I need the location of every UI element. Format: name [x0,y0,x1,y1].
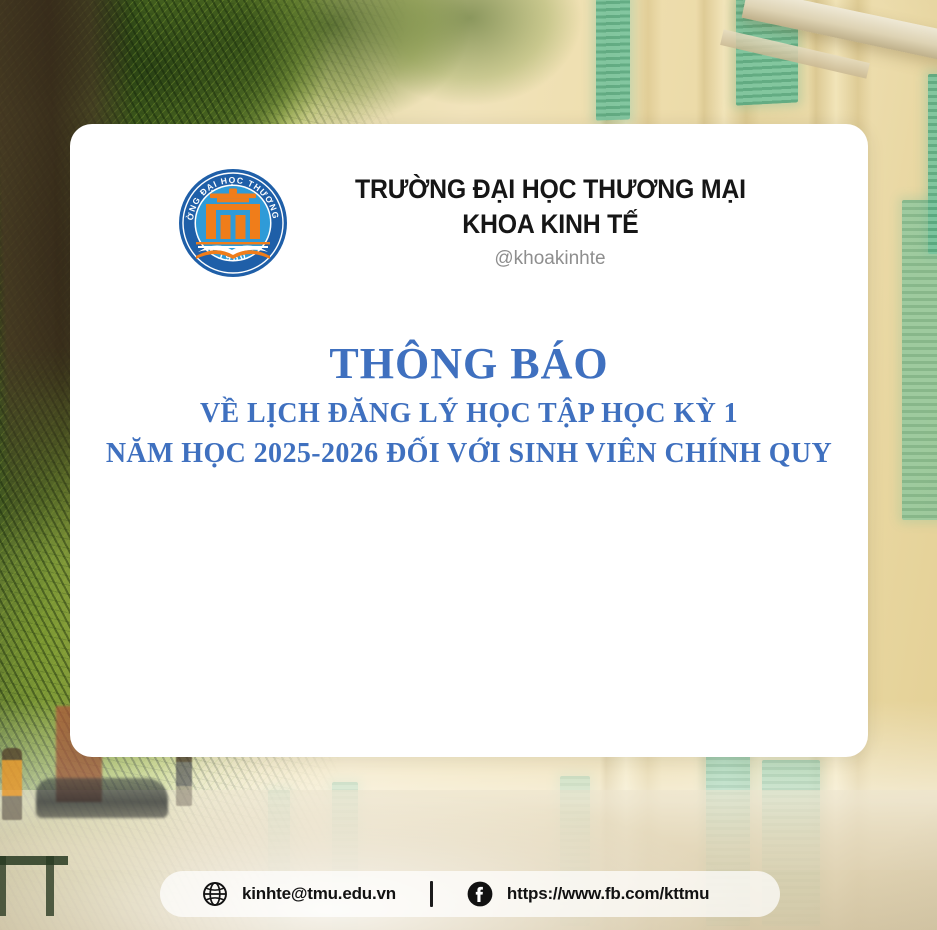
facebook-icon [467,881,493,907]
announcement-block: THÔNG BÁO VỀ LỊCH ĐĂNG LÝ HỌC TẬP HỌC KỲ… [70,338,868,474]
email-contact[interactable]: kinhte@tmu.edu.vn [202,881,396,907]
facebook-url: https://www.fb.com/kttmu [507,884,709,904]
announcement-card: TRƯỜNG ĐẠI HỌC THƯƠNG MẠI • 1960 • [70,124,868,757]
faculty-name: KHOA KINH TẾ [355,206,746,242]
announcement-subtitle-line-1: VỀ LỊCH ĐĂNG LÝ HỌC TẬP HỌC KỲ 1 [70,394,868,434]
announcement-subtitle-line-2: NĂM HỌC 2025-2026 ĐỐI VỚI SINH VIÊN CHÍN… [70,434,868,474]
email-address: kinhte@tmu.edu.vn [242,884,396,904]
globe-icon [202,881,228,907]
organisation-names: TRƯỜNG ĐẠI HỌC THƯƠNG MẠI KHOA KINH TẾ @… [338,173,763,274]
facebook-contact[interactable]: https://www.fb.com/kttmu [467,881,709,907]
card-header: TRƯỜNG ĐẠI HỌC THƯƠNG MẠI • 1960 • [70,124,868,280]
footer-divider [430,881,433,907]
university-name: TRƯỜNG ĐẠI HỌC THƯƠNG MẠI [355,173,746,206]
poster-canvas: TRƯỜNG ĐẠI HỌC THƯƠNG MẠI • 1960 • [0,0,937,930]
announcement-title: THÔNG BÁO [70,338,868,390]
contact-footer-bar: kinhte@tmu.edu.vn https://www.fb.com/ktt… [160,871,780,917]
social-handle: @khoakinhte [338,244,763,274]
tmu-seal-logo-icon: TRƯỜNG ĐẠI HỌC THƯƠNG MẠI • 1960 • [176,166,290,280]
